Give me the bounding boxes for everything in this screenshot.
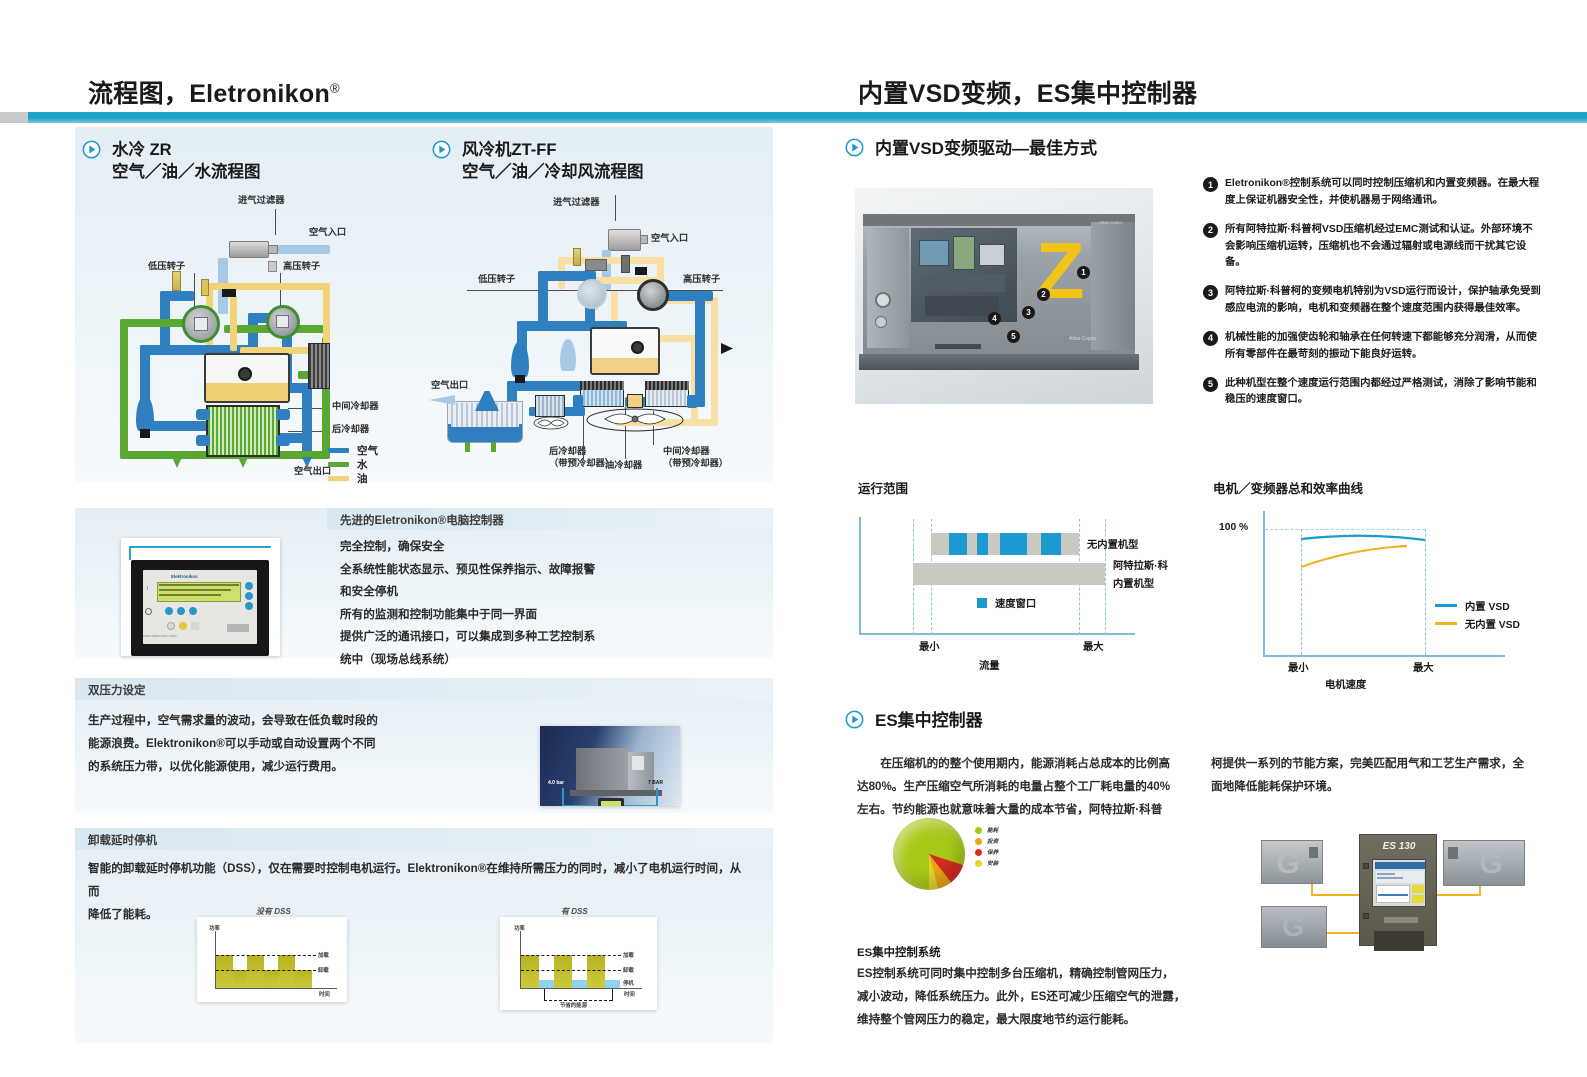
list-item: 5 此种机型在整个速度运行范围内都经过严格测试，消除了影响节能和稳压的速度窗口。 [1203, 376, 1543, 410]
legend-swatch-speed-window [977, 598, 987, 608]
legend-no-builtin-vsd: 无内置 VSD [1435, 616, 1520, 631]
right-page: 内置VSD变频，ES集中控制器 内置VSD变频驱动—最佳方式 Z [793, 0, 1587, 1077]
controller-brand-text: Elektronikon [171, 574, 198, 579]
efficiency-chart: 100 % 内置 VSD 无内置 VSD 最小 最大 电机速度 [1211, 505, 1551, 685]
pie-slices [893, 818, 965, 890]
text-line: 面地降低能耗保护环境。 [1211, 775, 1551, 798]
chart-x-axis [215, 988, 337, 989]
pipe-oil-right [323, 283, 330, 347]
drain-1 [465, 442, 470, 452]
chart-xlabel-motor-speed: 电机速度 [1325, 676, 1366, 691]
play-circle-icon [845, 710, 864, 729]
play-circle-icon [845, 138, 864, 157]
pipe-oil-far-right [711, 297, 718, 425]
intake-filter-drain [268, 261, 277, 272]
chart-label-saving: 节省的能源 [558, 1001, 589, 1009]
es-text-right: 柯提供一系列的节能方案，完美匹配用气和工艺生产需求，全 面地降低能耗保护环境。 [1211, 752, 1551, 798]
right-header-rule [793, 112, 1587, 123]
es-screen [1372, 859, 1426, 907]
intercooler-header [645, 381, 689, 390]
legend-item-air: 空气 [328, 443, 378, 458]
oil-filter-icon [222, 289, 236, 297]
legend-label-maintenance: 保养 [987, 848, 998, 856]
legend-line-no-builtin-vsd [1435, 622, 1457, 625]
item-text: 机械性能的加强使齿轮和轴承在任何转速下都能够充分润滑，从而使所有零部件在最苛刻的… [1225, 330, 1543, 364]
text-line: 达80%。生产压缩空气所消耗的电量占整个工厂耗电量的40% [857, 775, 1197, 798]
chart-x-axis [859, 633, 1135, 635]
label-oil-cooler: 油冷却器 [605, 460, 642, 472]
left-page: 流程图，Eletronikon® 水冷 ZR 空气／油／水流程图 风冷机ZT [0, 0, 793, 1077]
speed-window [977, 533, 988, 555]
oil-level [592, 358, 658, 373]
left-header-rule [28, 112, 793, 123]
oil-cooler-block [308, 343, 330, 389]
bullet-es-controller-text: ES集中控制器 [875, 710, 983, 733]
water-drain-left [172, 457, 182, 468]
legend-item: 安装 [975, 859, 998, 867]
cooler-port-tr [276, 409, 290, 420]
bullet-es-controller: ES集中控制器 [845, 710, 983, 733]
aftercooler-header [580, 381, 624, 390]
xtick-max: 最大 [1083, 638, 1104, 653]
oil-filter-icon [635, 267, 647, 275]
label-intercooler: 中间冷却器 （带预冷却器） [663, 446, 728, 469]
feature-line: 和安全停机 [340, 581, 770, 604]
chart-xlabel-flow: 流量 [979, 657, 1000, 672]
operating-range-title: 运行范围 [858, 478, 908, 497]
chart-label-unload: 卸载 [623, 966, 634, 974]
label-line-1: 后冷却器 [549, 446, 614, 458]
play-circle-icon [82, 140, 101, 159]
feature-line: 全系统性能状态显示、预见性保养指示、故障报警 [340, 559, 770, 582]
registered-mark: ® [330, 81, 340, 96]
bar-stop [605, 980, 620, 988]
chart-xlabel: 时间 [624, 990, 635, 998]
play-circle-icon [432, 140, 451, 159]
water-drain-mid [238, 457, 248, 468]
pipe-air-right-down [695, 291, 705, 407]
list-item: 2 所有阿特拉斯·科普柯VSD压缩机经过EMC测试和认证。外部环境不会影响压缩机… [1203, 222, 1543, 273]
dss-strip [75, 828, 773, 850]
label-builtin-2: 内置机型 [1113, 575, 1154, 590]
item-text: 所有阿特拉斯·科普柯VSD压缩机经过EMC测试和认证。外部环境不会影响压缩机运转… [1225, 222, 1543, 273]
pressure-label-right: 7 BAR [648, 780, 663, 786]
intake-filter-neck [640, 235, 648, 244]
label-air-outlet: 空气出口 [294, 466, 331, 478]
legend-item: 保养 [975, 848, 998, 856]
hp-rotor-element [637, 279, 669, 311]
vsd-machine-photo: Z Atlas Copco Atlas Copco 1 2 3 4 5 [855, 188, 1153, 404]
vsd-benefits-list: 1 Eletronikon®控制系统可以同时控制压缩机和内置变频器。在最大程度上… [1203, 176, 1543, 421]
bar [247, 955, 264, 988]
lp-rotor-element [577, 279, 607, 309]
legend-item-water: 水 [328, 457, 368, 472]
connector-line [1433, 894, 1481, 896]
machine-logo: G [1470, 847, 1512, 881]
label-non-builtin: 无内置机型 [1087, 536, 1138, 551]
air-separator-2 [560, 339, 576, 371]
legend-label-installation: 安装 [987, 859, 998, 867]
bullet-line-1: 风冷机ZT-FF [462, 140, 644, 162]
chart-label-load: 加载 [318, 951, 329, 959]
pipe-air-inlet [278, 245, 330, 254]
small-cooler-block [535, 395, 565, 417]
bar [554, 955, 572, 988]
list-item: 1 Eletronikon®控制系统可以同时控制压缩机和内置变频器。在最大程度上… [1203, 176, 1543, 210]
es-controller-cabinet: ES 130 [1359, 834, 1437, 946]
saving-tick [612, 989, 613, 1001]
legend-label-no-builtin-vsd: 无内置 VSD [1465, 616, 1520, 631]
legend-label-speed-window: 速度窗口 [995, 595, 1036, 610]
xtick-min: 最小 [919, 638, 940, 653]
label-line-1: 中间冷却器 [663, 446, 728, 458]
check-valve-icon [721, 343, 733, 354]
cooling-fan-icon [585, 405, 685, 435]
text-line: 柯提供一系列的节能方案，完美匹配用气和工艺生产需求，全 [1211, 752, 1551, 775]
callout-3: 3 [1022, 306, 1035, 319]
bullet-air-cooled-zt-ff: 风冷机ZT-FF 空气／油／冷却风流程图 [432, 140, 644, 184]
bar-stop [572, 980, 587, 988]
compressor-unit: G [1261, 840, 1323, 884]
text-line: 能源浪费。Elektronikon®可以手动或自动设置两个不同 [88, 732, 548, 755]
valve-lp [172, 271, 181, 291]
bullet-air-cooled-zt-ff-text: 风冷机ZT-FF 空气／油／冷却风流程图 [462, 140, 644, 184]
text-line: 维持整个管网压力的稳定，最大限度地节约运行能耗。 [857, 1008, 1207, 1031]
es-system-title: ES集中控制系统 [857, 944, 941, 960]
reference-line-load [521, 955, 621, 956]
xtick-max: 最大 [1413, 659, 1434, 674]
machine-logo: G [1272, 911, 1314, 943]
label-line-2: （带预冷却器） [663, 458, 728, 470]
bar [264, 970, 278, 988]
intake-filter-neck [268, 245, 278, 254]
legend-dot-installation [975, 860, 982, 867]
cost-pie-chart: 能耗 投资 保养 安装 [893, 818, 1073, 908]
brochure-page: 流程图，Eletronikon® 水冷 ZR 空气／油／水流程图 风冷机ZT [0, 0, 1587, 1077]
legend-label-energy: 能耗 [987, 826, 998, 834]
legend-item-oil: 油 [328, 471, 368, 486]
pie-legend: 能耗 投资 保养 安装 [975, 826, 998, 870]
feature-line: 所有的监测和控制功能集中于同一界面 [340, 604, 770, 627]
es-product-label: ES 130 [1360, 841, 1438, 852]
feature-line: 统中（现场总线系统） [340, 649, 770, 672]
bar [278, 955, 295, 988]
es-text-left: 在压缩机的的整个使用期内，能源消耗占总成本的比例高 达80%。生产压缩空气所消耗… [857, 752, 1197, 822]
bullet-water-cooled-zr: 水冷 ZR 空气／油／水流程图 [82, 140, 261, 184]
bullet-line-1: 水冷 ZR [112, 140, 261, 162]
hp-rotor-core [276, 315, 289, 328]
bar-builtin [913, 563, 1105, 585]
controller-photo: Elektronikon i www.atlascopco.com [121, 538, 280, 656]
dss-title: 卸载延时停机 [88, 832, 157, 848]
chart-label-load: 加载 [623, 951, 634, 959]
legend-item: 投资 [975, 837, 998, 845]
oil-level [206, 383, 288, 401]
speed-window [949, 533, 967, 555]
valve-body [585, 259, 607, 271]
small-fan-icon [533, 415, 569, 431]
dual-pressure-text: 生产过程中，空气需求量的波动，会导致在低负载时段的 能源浪费。Elektroni… [88, 709, 548, 779]
item-text: Eletronikon®控制系统可以同时控制压缩机和内置变频器。在最大程度上保证… [1225, 176, 1543, 210]
oil-pump [238, 367, 252, 381]
dual-pressure-photo: 4.0 bar 7 BAR [540, 726, 680, 806]
diagram-water-cooled-zr: 进气过滤器 空气入口 低压转子 高压转子 中间冷却器 后冷却器 空气出口 [120, 195, 420, 480]
legend-label-builtin-vsd: 内置 VSD [1465, 598, 1510, 613]
bullet-water-cooled-zr-text: 水冷 ZR 空气／油／水流程图 [112, 140, 261, 184]
controller-strip-title: 先进的Eletronikon®电脑控制器 [340, 512, 504, 528]
bar [521, 955, 539, 988]
left-page-title-text: 流程图，Eletronikon [88, 80, 330, 108]
bullet-line-2: 空气／油／冷却风流程图 [462, 162, 644, 184]
text-line: ES控制系统可同时集中控制多台压缩机，精确控制管网压力， [857, 962, 1207, 985]
callout-4: 4 [988, 312, 1001, 325]
compressor-unit: G [1443, 840, 1525, 886]
operating-range-chart: 无内置机型 阿特拉斯·科 内置机型 速度窗口 最小 最大 流量 [855, 505, 1175, 665]
diagram-air-cooled-zt-ff: 进气过滤器 空气入口 低压转子 高压转子 空气出口 后冷却器 （带预冷却器） 油… [425, 195, 765, 480]
label-air-inlet: 空气入口 [651, 233, 688, 245]
item-text: 此种机型在整个速度运行范围内都经过严格测试，消除了影响节能和稳压的速度窗口。 [1225, 376, 1543, 410]
es-product-diagram: G G G ES 130 [1233, 818, 1533, 948]
list-item: 4 机械性能的加强使齿轮和轴承在任何转速下都能够充分润滑，从而使所有零部件在最苛… [1203, 330, 1543, 364]
text-line: 减小波动，降低系统压力。此外，ES还可减少压缩空气的泄露， [857, 985, 1207, 1008]
bullet-line-2: 空气／油／水流程图 [112, 162, 261, 184]
callout-2: 2 [1037, 288, 1050, 301]
cooler-port-right [687, 395, 697, 408]
label-aftercooler: 后冷却器 [332, 424, 369, 436]
valve-oil [201, 279, 209, 296]
cooler-port-bl [196, 435, 210, 446]
legend-line-builtin-vsd [1435, 604, 1457, 607]
legend-dot-energy [975, 827, 982, 834]
chart-xlabel: 时间 [319, 990, 330, 998]
speed-window [1000, 533, 1027, 555]
separator-drain-1 [515, 375, 525, 383]
intake-filter-body [608, 229, 641, 251]
valve-hp [621, 255, 630, 273]
legend-speed-window: 速度窗口 [977, 595, 1036, 610]
left-page-title: 流程图，Eletronikon® [88, 74, 340, 110]
cooler-port-left [573, 395, 583, 408]
callout-1: 1 [1077, 266, 1090, 279]
reference-line-unload [521, 970, 621, 971]
item-number: 2 [1203, 223, 1218, 238]
item-number: 4 [1203, 331, 1218, 346]
label-intake-filter: 进气过滤器 [238, 195, 285, 207]
pipe-water-left [120, 319, 128, 459]
text-line: 生产过程中，空气需求量的波动，会导致在低负载时段的 [88, 709, 548, 732]
intake-filter-body [229, 241, 269, 258]
label-hp-rotor: 高压转子 [683, 274, 720, 286]
item-number: 3 [1203, 285, 1218, 300]
label-air-inlet: 空气入口 [309, 227, 346, 239]
legend-dot-maintenance [975, 849, 982, 856]
air-separator-left [136, 395, 154, 431]
label-hp-rotor: 高压转子 [283, 261, 320, 273]
cooler-core [206, 405, 280, 457]
text-line: 在压缩机的的整个使用期内，能源消耗占总成本的比例高 [857, 752, 1197, 775]
label-lp-rotor: 低压转子 [478, 274, 515, 286]
oil-pump [631, 341, 644, 354]
leader-line [275, 209, 276, 235]
chart-no-dss: 功率 加载 卸载 时间 [197, 917, 347, 1002]
legend-swatch-air [328, 448, 349, 453]
header-rule-stub [0, 112, 28, 123]
item-text: 阿特拉斯·科普柯的变频电机特别为VSD运行而设计，保护轴承免受到感应电流的影响，… [1225, 284, 1543, 318]
reference-line-unload [216, 970, 316, 971]
callout-5: 5 [1007, 330, 1020, 343]
bar-stop [539, 980, 554, 988]
item-number: 1 [1203, 177, 1218, 192]
dual-pressure-title: 双压力设定 [88, 682, 146, 698]
legend-label-investment: 投资 [987, 837, 998, 845]
es-system-text: ES控制系统可同时集中控制多台压缩机，精确控制管网压力， 减小波动，降低系统压力… [857, 962, 1207, 1032]
bar [587, 955, 605, 988]
bar [233, 970, 247, 988]
cooler-port-br [276, 435, 290, 446]
chart-y-axis [859, 517, 861, 635]
valve-lp [573, 248, 581, 266]
legend-swatch-oil [328, 476, 349, 481]
legend-label-air: 空气 [357, 443, 378, 458]
label-builtin: 阿特拉斯·科 [1113, 557, 1168, 572]
list-item: 3 阿特拉斯·科普柯的变频电机特别为VSD运行而设计，保护轴承免受到感应电流的影… [1203, 284, 1543, 318]
bullet-vsd-drive: 内置VSD变频驱动—最佳方式 [845, 138, 1097, 161]
efficiency-curves [1211, 505, 1551, 685]
pipe-air-lp-top [160, 291, 194, 301]
right-page-title: 内置VSD变频，ES集中控制器 [858, 74, 1197, 110]
chart-label-stop: 停机 [623, 979, 634, 987]
lp-rotor-core [194, 317, 208, 331]
connector-line [1311, 894, 1363, 896]
air-outlet-arrow [429, 395, 455, 405]
speed-window [1041, 533, 1061, 555]
legend-label-oil: 油 [357, 471, 368, 486]
chart-x-axis [520, 988, 642, 989]
text-line: 智能的卸载延时停机功能（DSS），仅在需要时控制电机运行。Elektroniko… [88, 857, 748, 903]
legend-swatch-water [328, 462, 349, 467]
machine-logo: G [1268, 847, 1308, 881]
chart-title-no-dss: 没有 DSS [256, 906, 291, 917]
legend-dot-investment [975, 838, 982, 845]
feature-line: 完全控制，确保安全 [340, 536, 770, 559]
air-separator-drain [140, 429, 150, 438]
pipe-oil-mid [230, 295, 237, 351]
label-intake-filter: 进气过滤器 [553, 197, 600, 209]
drain-2 [491, 442, 496, 452]
legend-item: 能耗 [975, 826, 998, 834]
leader-line [615, 195, 616, 221]
efficiency-chart-title: 电机／变频器总和效率曲线 [1213, 478, 1363, 497]
legend-builtin-vsd: 内置 VSD [1435, 598, 1510, 613]
label-air-outlet: 空气出口 [431, 380, 468, 392]
reference-line-load [216, 955, 316, 956]
xtick-min: 最小 [1288, 659, 1309, 674]
chart-title-with-dss: 有 DSS [561, 906, 588, 917]
label-intercooler: 中间冷却器 [332, 401, 379, 413]
chart-label-unload: 卸载 [318, 966, 329, 974]
leader-line [583, 411, 584, 459]
text-line: 的系统压力带，以优化能源使用，减少运行费用。 [88, 755, 548, 778]
compressor-unit: G [1261, 906, 1327, 948]
legend-label-water: 水 [357, 457, 368, 472]
controller-url-text: www.atlascopco.com [143, 634, 177, 638]
item-number: 5 [1203, 377, 1218, 392]
cooler-port-tl [196, 409, 210, 420]
bar [216, 955, 233, 988]
controller-feature-list: 完全控制，确保安全 全系统性能状态显示、预见性保养指示、故障报警 和安全停机 所… [340, 536, 770, 672]
bullet-vsd-drive-text: 内置VSD变频驱动—最佳方式 [875, 138, 1097, 161]
pressure-label-left: 4.0 bar [548, 780, 564, 786]
feature-line: 提供广泛的通讯接口，可以集成到多种工艺控制系 [340, 626, 770, 649]
chart-with-dss: 功率 加载 卸载 停机 时间 节省的能源 [500, 917, 657, 1010]
dual-pressure-strip [75, 678, 773, 700]
bar [295, 970, 312, 988]
